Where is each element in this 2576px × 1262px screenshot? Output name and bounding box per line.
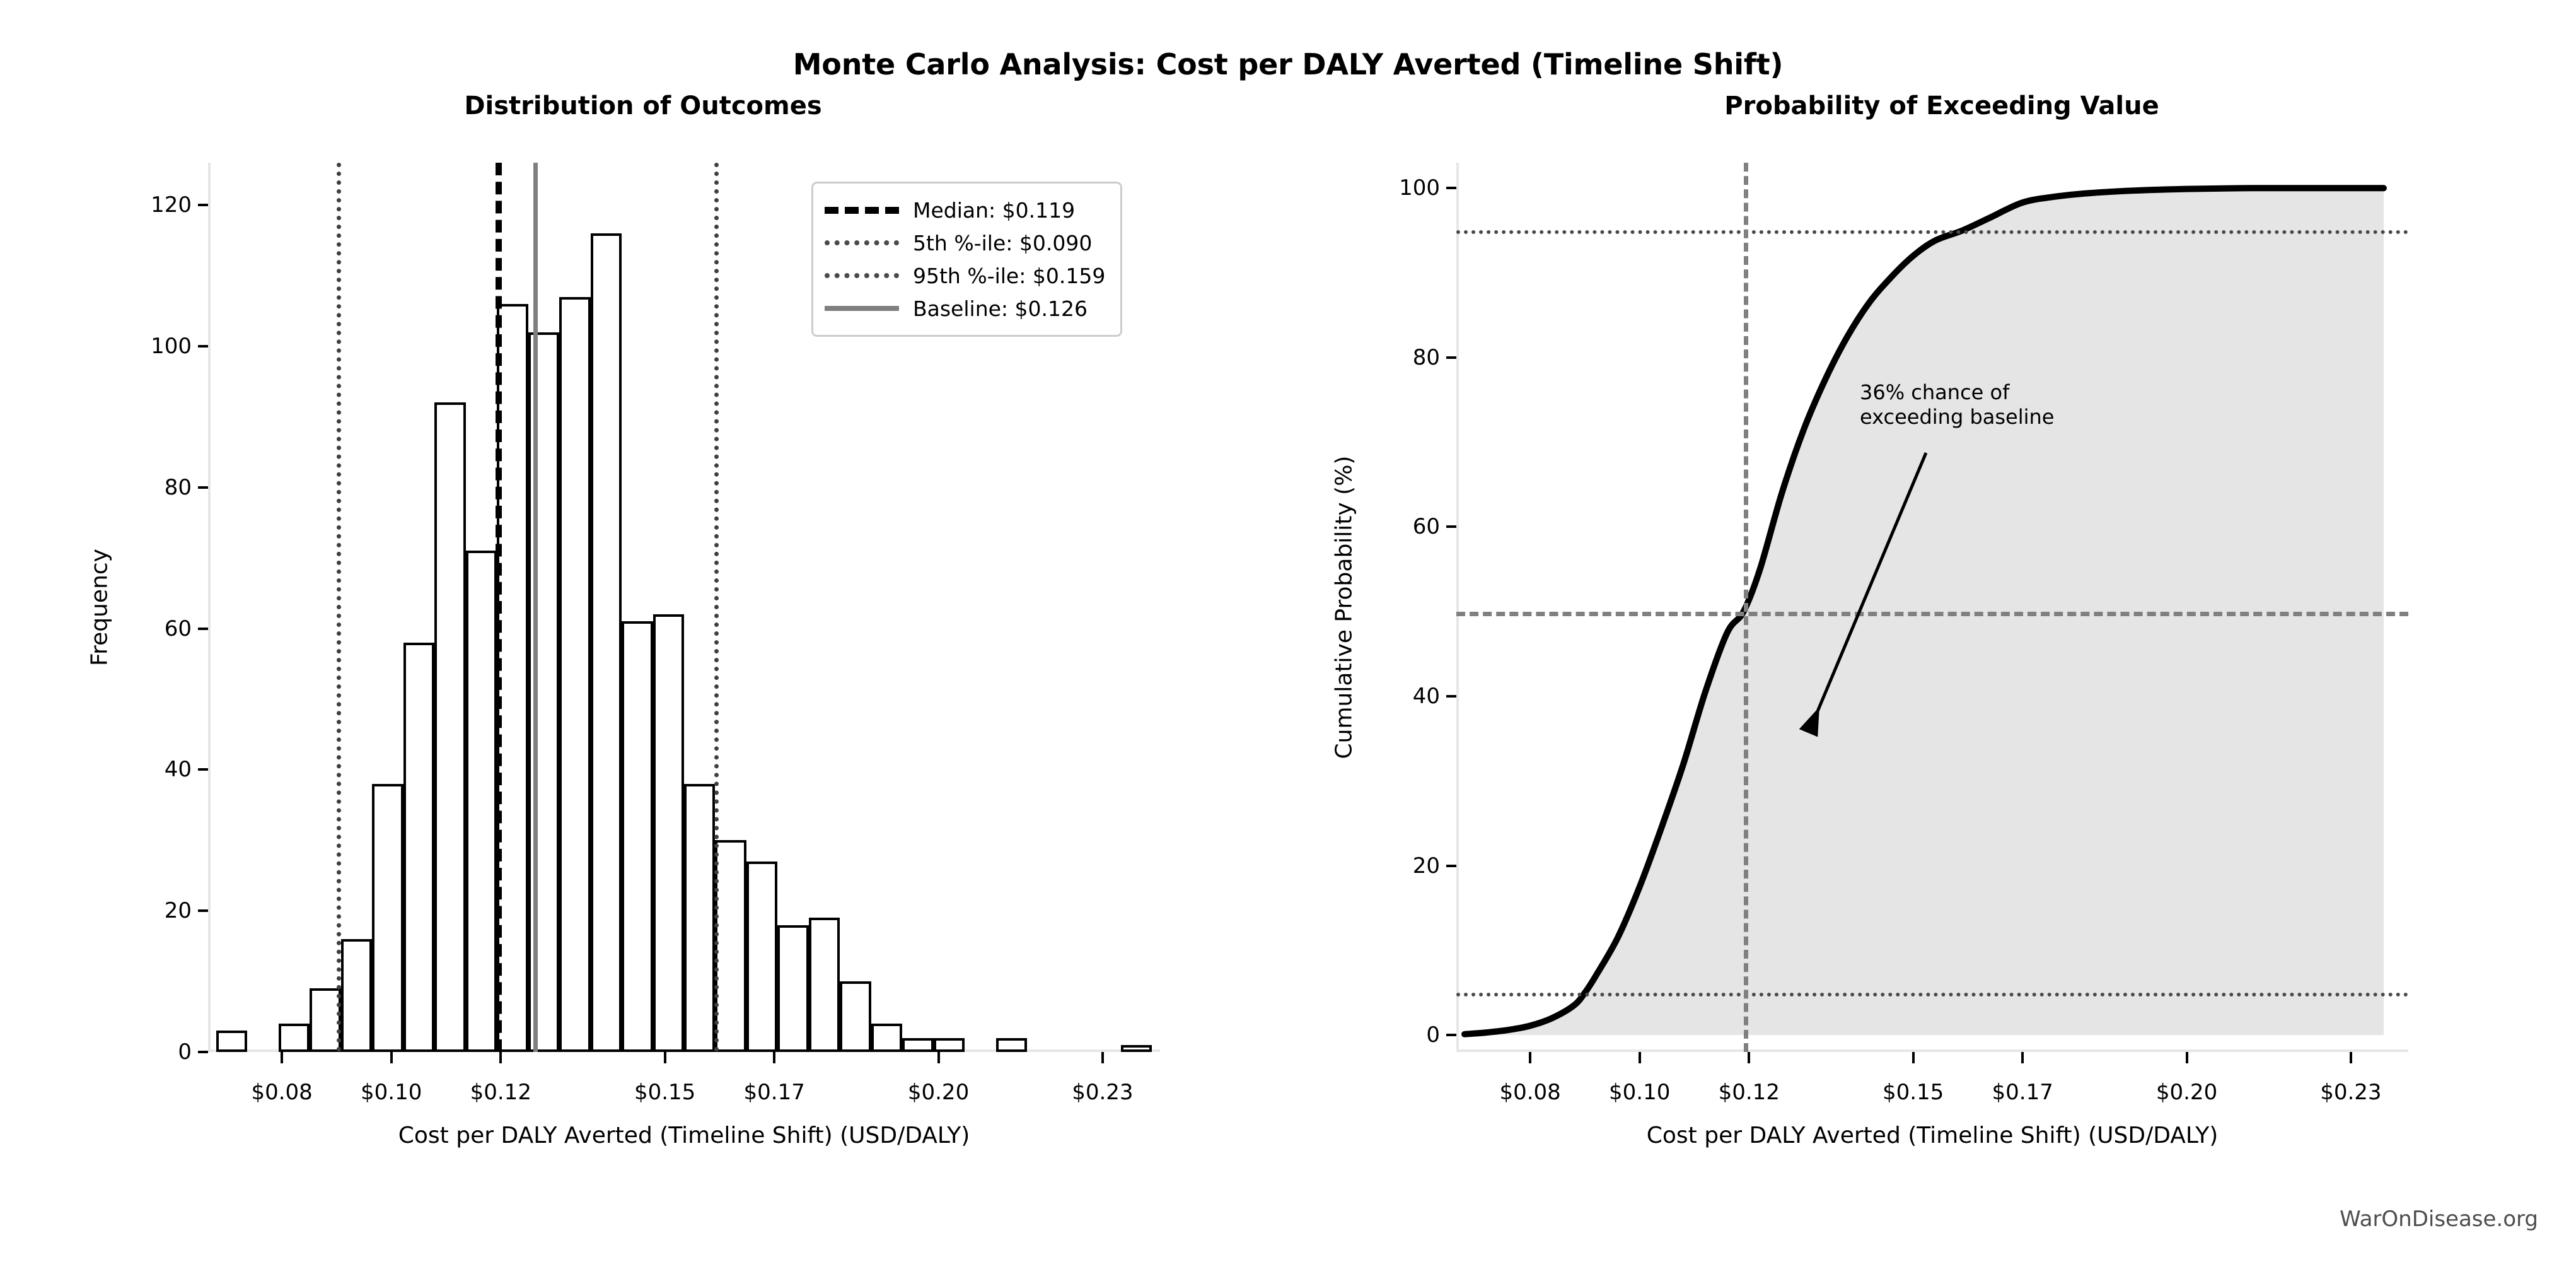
legend-label: 95th %-ile: $0.159 [913,264,1105,288]
cdf-x-tick-mark [2021,1052,2024,1063]
histogram-vline-baseline [533,163,538,1052]
legend-label: Median: $0.119 [913,198,1075,223]
left-axis-spine [208,163,211,1052]
histogram-y-tick-label: 20 [165,898,192,923]
histogram-bar [934,1038,965,1052]
histogram-x-tick-label: $0.17 [744,1080,805,1105]
histogram-bar [341,939,372,1052]
left-panel-title: Distribution of Outcomes [126,91,1160,120]
histogram-y-tick-mark [198,1051,208,1053]
histogram-y-tick-mark [198,345,208,348]
legend-row: Baseline: $0.126 [825,292,1105,325]
cdf-y-tick-mark [1446,1034,1456,1036]
histogram-bar [528,332,559,1052]
histogram-bar [279,1024,310,1052]
histogram-y-tick-label: 40 [165,757,192,782]
histogram-x-tick-label: $0.12 [470,1080,531,1105]
cdf-y-tick-label: 60 [1413,514,1440,539]
histogram-y-tick-label: 80 [165,475,192,500]
histogram-bar [809,918,840,1052]
histogram-bar [591,233,622,1052]
cdf-x-tick-mark [2186,1052,2188,1063]
legend-row: 5th %-ile: $0.090 [825,226,1105,259]
histogram-x-tick-label: $0.23 [1072,1080,1133,1105]
histogram-y-tick-label: 120 [151,192,192,218]
cdf-x-tick-label: $0.08 [1499,1080,1560,1105]
histogram-bar [715,840,746,1052]
cdf-x-tick-mark [1639,1052,1641,1063]
cdf-y-tick-label: 40 [1413,684,1440,709]
histogram-x-tick-label: $0.15 [634,1080,695,1105]
watermark-text: WarOnDisease.org [2340,1206,2538,1232]
right-panel-title: Probability of Exceeding Value [1374,91,2509,120]
histogram-bar [372,784,403,1052]
histogram-y-tick-label: 100 [151,334,192,359]
histogram-x-tick-mark [664,1052,666,1063]
histogram-y-tick-mark [198,486,208,489]
histogram-bar [622,621,653,1052]
legend-row: Median: $0.119 [825,194,1105,226]
histogram-bar [684,784,715,1052]
histogram-x-tick-mark [1101,1052,1104,1063]
cdf-y-tick-label: 80 [1413,345,1440,370]
histogram-y-axis-label: Frequency [87,549,113,666]
histogram-vline-p05 [337,163,341,1052]
histogram-y-tick-mark [198,909,208,912]
cdf-y-axis-label: Cumulative Probability (%) [1332,456,1357,759]
histogram-y-tick-mark [198,768,208,771]
cdf-x-axis-label: Cost per DALY Averted (Timeline Shift) (… [1456,1123,2408,1148]
histogram-x-tick-mark [281,1052,283,1063]
cdf-y-tick-mark [1446,865,1456,867]
histogram-bar [559,297,590,1052]
cdf-x-tick-mark [1912,1052,1915,1063]
histogram-bar [902,1038,933,1052]
histogram-bar [403,643,434,1052]
histogram-vline-p95 [714,163,719,1052]
legend-swatch-dotted-icon [825,240,899,245]
cdf-axes: 36% chance of exceeding baseline 0204060… [1456,163,2408,1052]
cdf-y-tick-mark [1446,695,1456,698]
cdf-x-tick-label: $0.23 [2320,1080,2381,1105]
cdf-y-tick-mark [1446,187,1456,189]
histogram-bar [653,614,684,1052]
histogram-bar [871,1024,902,1052]
figure-suptitle: Monte Carlo Analysis: Cost per DALY Aver… [0,47,2576,81]
legend-row: 95th %-ile: $0.159 [825,259,1105,292]
histogram-bar [434,402,465,1052]
histogram-x-tick-label: $0.08 [251,1080,312,1105]
cdf-x-tick-label: $0.15 [1883,1080,1944,1105]
histogram-x-tick-mark [390,1052,393,1063]
cdf-y-tick-label: 100 [1399,175,1440,201]
cdf-y-tick-mark [1446,356,1456,359]
annotation-arrow-line [1809,453,1926,730]
histogram-y-tick-label: 0 [178,1039,192,1065]
histogram-y-tick-label: 60 [165,616,192,641]
histogram-bar [216,1031,247,1052]
cdf-x-tick-label: $0.20 [2156,1080,2217,1105]
cdf-x-tick-mark [1748,1052,1750,1063]
cdf-y-tick-label: 20 [1413,853,1440,879]
histogram-vline-median [496,163,502,1052]
legend-swatch-dotted-icon [825,273,899,278]
histogram-x-tick-label: $0.10 [361,1080,422,1105]
cdf-annotation-line2: exceeding baseline [1860,405,2054,429]
legend-label: 5th %-ile: $0.090 [913,231,1092,255]
legend-swatch-solid-icon [825,306,899,311]
histogram-x-tick-mark [773,1052,775,1063]
histogram-x-tick-mark [937,1052,940,1063]
annotation-arrow-icon [1456,163,2408,1052]
histogram-bar [996,1038,1027,1052]
cdf-y-tick-label: 0 [1426,1022,1440,1048]
histogram-x-tick-mark [499,1052,502,1063]
histogram-x-tick-label: $0.20 [908,1080,969,1105]
cdf-x-tick-label: $0.17 [1992,1080,2053,1105]
cdf-x-tick-mark [2350,1052,2352,1063]
histogram-bar [746,862,777,1052]
histogram-bar [840,981,871,1052]
legend-swatch-dashed-icon [825,207,899,214]
histogram-bar [777,925,808,1052]
cdf-x-tick-label: $0.10 [1609,1080,1670,1105]
cdf-x-tick-label: $0.12 [1719,1080,1780,1105]
histogram-bar [466,551,497,1052]
figure-canvas: Monte Carlo Analysis: Cost per DALY Aver… [0,0,2576,1262]
histogram-legend: Median: $0.1195th %-ile: $0.09095th %-il… [811,182,1122,337]
histogram-bar [1121,1045,1152,1052]
cdf-annotation-line1: 36% chance of [1860,380,2054,405]
histogram-x-axis-label: Cost per DALY Averted (Timeline Shift) (… [208,1123,1160,1148]
cdf-annotation: 36% chance of exceeding baseline [1860,380,2054,429]
cdf-y-tick-mark [1446,525,1456,528]
histogram-y-tick-mark [198,628,208,630]
legend-label: Baseline: $0.126 [913,296,1088,321]
histogram-y-tick-mark [198,204,208,206]
cdf-x-tick-mark [1529,1052,1531,1063]
histogram-bar [497,304,528,1052]
